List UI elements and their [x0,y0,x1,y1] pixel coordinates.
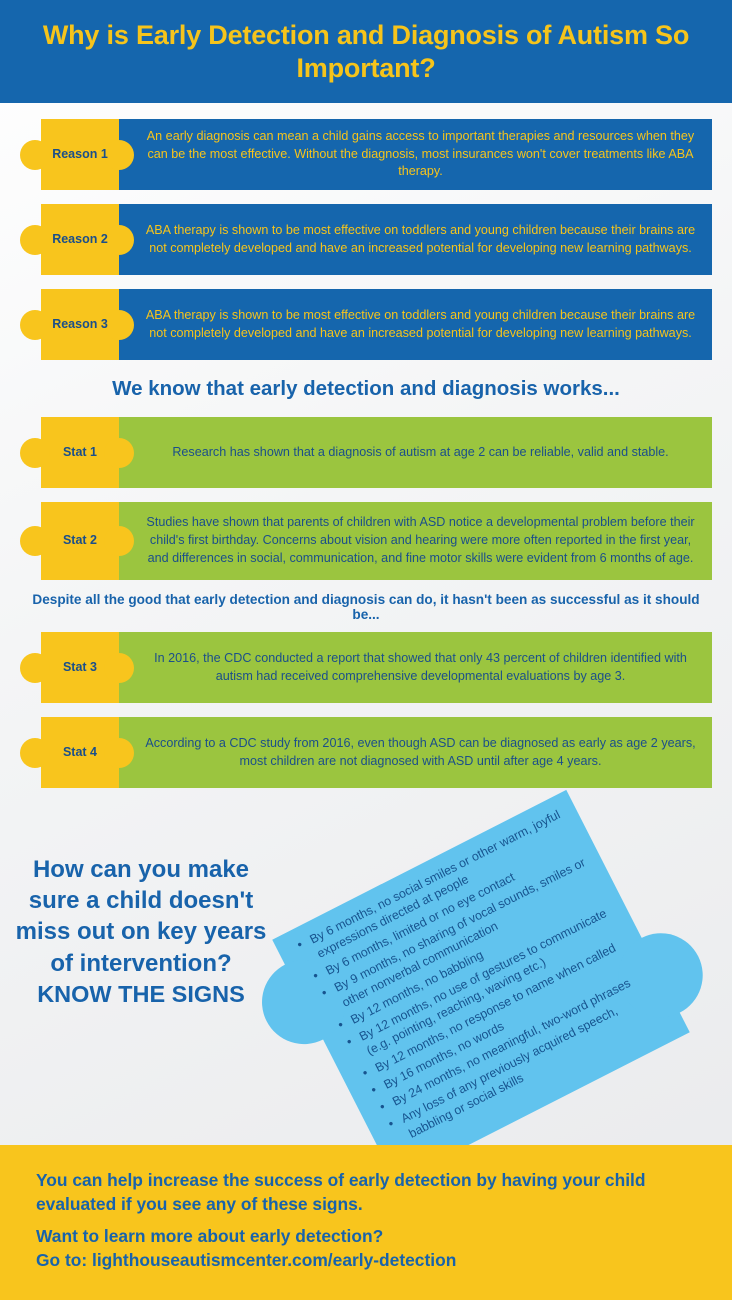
reason-text-1: An early diagnosis can mean a child gain… [145,128,696,182]
page-header: Why is Early Detection and Diagnosis of … [0,0,732,103]
reason-tab-label-3: Reason 3 [52,318,108,332]
reason-text-3: ABA therapy is shown to be most effectiv… [145,307,696,343]
reason-panel-1: An early diagnosis can mean a child gain… [119,119,712,190]
stat-panel-2: Studies have shown that parents of child… [119,502,712,580]
signs-call-to-action: KNOW THE SIGNS [10,979,272,1010]
headline-we-know: We know that early detection and diagnos… [0,360,732,417]
stat-row-2: Stat 2 Studies have shown that parents o… [41,502,712,580]
reason-row-3: Reason 3 ABA therapy is shown to be most… [41,289,712,360]
stat-row-3: Stat 3 In 2016, the CDC conducted a repo… [41,632,712,703]
spacer [0,275,732,289]
spacer [0,190,732,204]
reason-panel-3: ABA therapy is shown to be most effectiv… [119,289,712,360]
stat-text-1: Research has shown that a diagnosis of a… [172,444,668,462]
stat-row-4: Stat 4 According to a CDC study from 201… [41,717,712,788]
reason-panel-2: ABA therapy is shown to be most effectiv… [119,204,712,275]
stat-text-3: In 2016, the CDC conducted a report that… [145,650,696,686]
stat-tab-2[interactable]: Stat 2 [41,502,119,580]
stat-tab-label-4: Stat 4 [63,746,97,760]
reasons-section: Reason 1 An early diagnosis can mean a c… [0,119,732,360]
reason-tab-1[interactable]: Reason 1 [41,119,119,190]
stat-tab-4[interactable]: Stat 4 [41,717,119,788]
stat-text-2: Studies have shown that parents of child… [145,514,696,568]
reason-row-2: Reason 2 ABA therapy is shown to be most… [41,204,712,275]
stat-tab-label-3: Stat 3 [63,661,97,675]
reason-tab-label-1: Reason 1 [52,148,108,162]
reason-row-1: Reason 1 An early diagnosis can mean a c… [41,119,712,190]
stats-section-one: Stat 1 Research has shown that a diagnos… [0,417,732,580]
spacer [0,703,732,717]
spacer [0,103,732,119]
stats-section-two: Stat 3 In 2016, the CDC conducted a repo… [0,632,732,788]
signs-list: By 6 months, no social smiles or other w… [293,806,664,1151]
reason-tab-label-2: Reason 2 [52,233,108,247]
page-footer: You can help increase the success of ear… [0,1145,732,1300]
stat-tab-1[interactable]: Stat 1 [41,417,119,488]
footer-line-2: Want to learn more about early detection… [36,1225,702,1249]
page-title: Why is Early Detection and Diagnosis of … [40,19,692,85]
signs-question-block: How can you make sure a child doesn't mi… [10,854,272,1009]
stat-panel-1: Research has shown that a diagnosis of a… [119,417,712,488]
spacer [0,488,732,502]
signs-puzzle-piece: By 6 months, no social smiles or other w… [272,790,690,1182]
footer-link[interactable]: Go to: lighthouseautismcenter.com/early-… [36,1249,702,1273]
stat-text-4: According to a CDC study from 2016, even… [145,735,696,771]
stat-tab-label-1: Stat 1 [63,446,97,460]
reason-tab-2[interactable]: Reason 2 [41,204,119,275]
reason-text-2: ABA therapy is shown to be most effectiv… [145,222,696,258]
signs-section: How can you make sure a child doesn't mi… [0,794,732,1159]
reason-tab-3[interactable]: Reason 3 [41,289,119,360]
stat-panel-4: According to a CDC study from 2016, even… [119,717,712,788]
stat-panel-3: In 2016, the CDC conducted a report that… [119,632,712,703]
stat-row-1: Stat 1 Research has shown that a diagnos… [41,417,712,488]
stat-tab-label-2: Stat 2 [63,534,97,548]
footer-line-1: You can help increase the success of ear… [36,1169,702,1216]
stat-tab-3[interactable]: Stat 3 [41,632,119,703]
puzzle-piece-wrap: By 6 months, no social smiles or other w… [268,792,728,1184]
signs-question-text: How can you make sure a child doesn't mi… [16,856,267,977]
headline-despite: Despite all the good that early detectio… [0,580,732,632]
